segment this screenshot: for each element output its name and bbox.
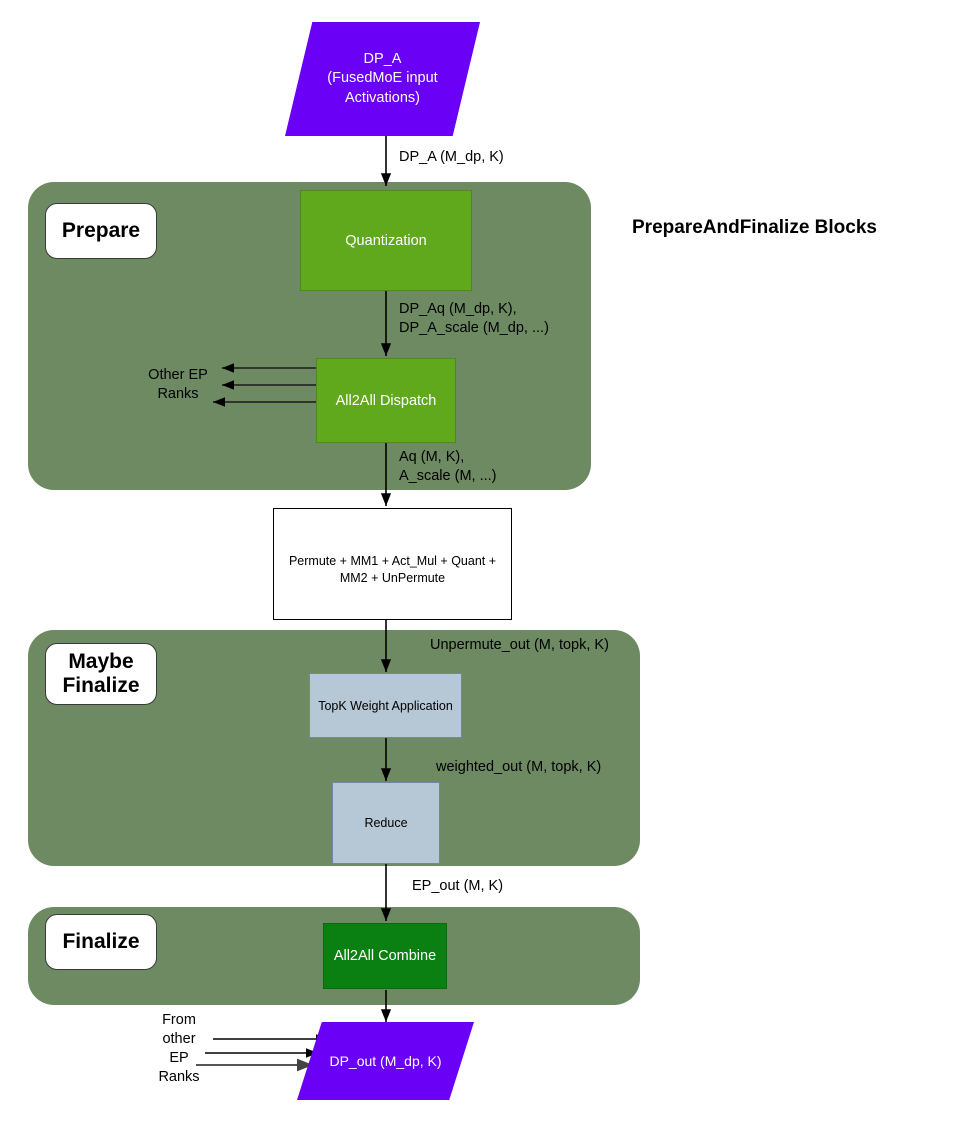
edge-label-unpermute-out: Unpermute_out (M, topk, K) [430, 636, 609, 655]
group-label-finalize-text: Finalize [62, 930, 139, 954]
group-label-prepare: Prepare [45, 203, 157, 259]
node-quantization-label: Quantization [345, 233, 426, 249]
node-all2all-combine-label: All2All Combine [334, 948, 436, 964]
node-expert-compute[interactable]: Permute + MM1 + Act_Mul + Quant + MM2 + … [273, 508, 512, 620]
edge-label-dp-aq: DP_Aq (M_dp, K), DP_A_scale (M_dp, ...) [399, 300, 549, 338]
group-label-maybe-finalize-text: Maybe Finalize [62, 650, 139, 697]
node-quantization[interactable]: Quantization [300, 190, 472, 291]
group-label-maybe-finalize: Maybe Finalize [45, 643, 157, 705]
group-label-finalize: Finalize [45, 914, 157, 970]
node-dp-a-input[interactable]: DP_A (FusedMoE input Activations) [285, 22, 480, 136]
edge-label-aq: Aq (M, K), A_scale (M, ...) [399, 448, 497, 486]
annotation-from-other-ep-ranks: From other EP Ranks [150, 1011, 208, 1088]
node-expert-compute-label: Permute + MM1 + Act_Mul + Quant + MM2 + … [289, 553, 496, 586]
node-topk-weight-application-label: TopK Weight Application [318, 699, 453, 713]
edge-label-dp-a: DP_A (M_dp, K) [399, 148, 504, 167]
diagram-canvas: Prepare Maybe Finalize Finalize PrepareA… [0, 0, 971, 1121]
edge-label-ep-out: EP_out (M, K) [412, 877, 503, 896]
node-all2all-combine[interactable]: All2All Combine [323, 923, 447, 989]
annotation-other-ep-ranks: Other EP Ranks [136, 366, 220, 404]
node-dp-out[interactable]: DP_out (M_dp, K) [297, 1022, 474, 1100]
node-all2all-dispatch[interactable]: All2All Dispatch [316, 358, 456, 443]
node-dp-a-input-label: DP_A (FusedMoE input Activations) [285, 22, 480, 136]
node-reduce-label: Reduce [364, 816, 407, 830]
node-all2all-dispatch-label: All2All Dispatch [336, 393, 437, 409]
node-reduce[interactable]: Reduce [332, 782, 440, 864]
node-topk-weight-application[interactable]: TopK Weight Application [309, 673, 462, 738]
group-label-prepare-text: Prepare [62, 219, 140, 243]
node-dp-out-label: DP_out (M_dp, K) [297, 1022, 474, 1100]
diagram-title: PrepareAndFinalize Blocks [632, 217, 877, 239]
edge-label-weighted-out: weighted_out (M, topk, K) [436, 758, 601, 777]
